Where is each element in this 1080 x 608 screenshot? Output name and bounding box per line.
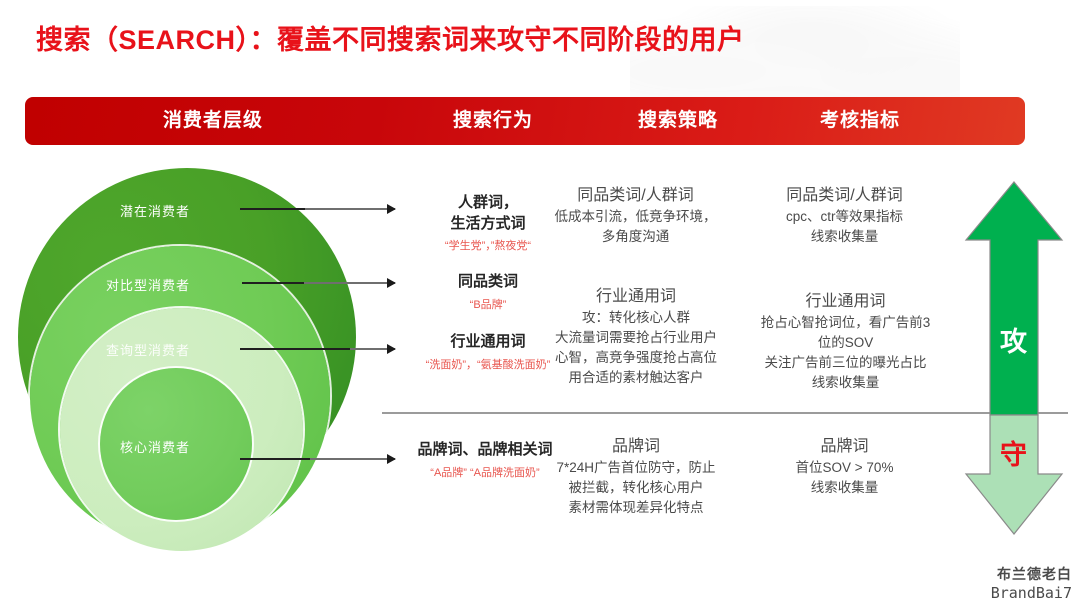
metric-body-2: 抢占心智抢词位，看广告前3 位的SOV 关注广告前三位的曝光占比 线索收集量 bbox=[738, 313, 953, 393]
strategy-block-1: 同品类词/人群词 低成本引流，低竞争环境， 多角度沟通 bbox=[528, 184, 743, 247]
metric-body-3: 首位SOV > 70% 线索收集量 bbox=[742, 458, 947, 498]
attack-defend-arrow: 攻 守 bbox=[958, 178, 1070, 538]
column-header-search-strategy: 搜索策略 bbox=[603, 97, 753, 145]
strategy-body-3: 7*24H广告首位防守，防止 被拦截，转化核心用户 素材需体现差异化特点 bbox=[520, 458, 752, 518]
watermark-en: BrandBai7 bbox=[991, 584, 1072, 602]
strategy-block-2: 行业通用词 攻：转化核心人群 大流量词需要抢占行业用户 心智，高竞争强度抢占高位… bbox=[520, 285, 752, 388]
strategy-body-2: 攻：转化核心人群 大流量词需要抢占行业用户 心智，高竞争强度抢占高位 用合适的素… bbox=[520, 308, 752, 388]
column-header-consumer-tier: 消费者层级 bbox=[113, 97, 313, 145]
nested-circles-diagram bbox=[18, 168, 378, 520]
metric-block-2: 行业通用词 抢占心智抢词位，看广告前3 位的SOV 关注广告前三位的曝光占比 线… bbox=[738, 290, 953, 393]
column-header-search-behavior: 搜索行为 bbox=[413, 97, 573, 145]
watermark-cn: 布兰德老白 bbox=[991, 564, 1072, 584]
circle-label-core-consumer: 核心消费者 bbox=[120, 437, 190, 456]
strategy-heading-3: 品牌词 bbox=[520, 435, 752, 458]
metric-block-3: 品牌词 首位SOV > 70% 线索收集量 bbox=[742, 435, 947, 498]
header-band: 消费者层级 搜索行为 搜索策略 考核指标 bbox=[25, 97, 1025, 145]
metric-block-1: 同品类词/人群词 cpc、ctr等效果指标 线索收集量 bbox=[742, 184, 947, 247]
strategy-heading-1: 同品类词/人群词 bbox=[528, 184, 743, 207]
connector-arrow-row1 bbox=[240, 208, 395, 210]
arrow-label-defend: 守 bbox=[958, 433, 1070, 472]
page-title: 搜索（SEARCH）：覆盖不同搜索词来攻守不同阶段的用户 bbox=[36, 18, 745, 57]
circle-label-potential-consumer: 潜在消费者 bbox=[120, 201, 190, 220]
metric-heading-2: 行业通用词 bbox=[738, 290, 953, 313]
metric-heading-3: 品牌词 bbox=[742, 435, 947, 458]
circle-label-comparison-consumer: 对比型消费者 bbox=[106, 275, 190, 294]
metric-heading-1: 同品类词/人群词 bbox=[742, 184, 947, 207]
metric-body-1: cpc、ctr等效果指标 线索收集量 bbox=[742, 207, 947, 247]
slide-canvas: 搜索（SEARCH）：覆盖不同搜索词来攻守不同阶段的用户 消费者层级 搜索行为 … bbox=[0, 0, 1080, 608]
circle-label-query-consumer: 查询型消费者 bbox=[106, 340, 190, 359]
column-header-assessment-metrics: 考核指标 bbox=[785, 97, 935, 145]
watermark: 布兰德老白 BrandBai7 bbox=[991, 564, 1072, 602]
strategy-block-3: 品牌词 7*24H广告首位防守，防止 被拦截，转化核心用户 素材需体现差异化特点 bbox=[520, 435, 752, 518]
arrow-label-attack: 攻 bbox=[958, 320, 1070, 359]
strategy-heading-2: 行业通用词 bbox=[520, 285, 752, 308]
connector-arrow-row2 bbox=[242, 282, 395, 284]
arrow-up-shape bbox=[966, 182, 1062, 415]
strategy-body-1: 低成本引流，低竞争环境， 多角度沟通 bbox=[528, 207, 743, 247]
